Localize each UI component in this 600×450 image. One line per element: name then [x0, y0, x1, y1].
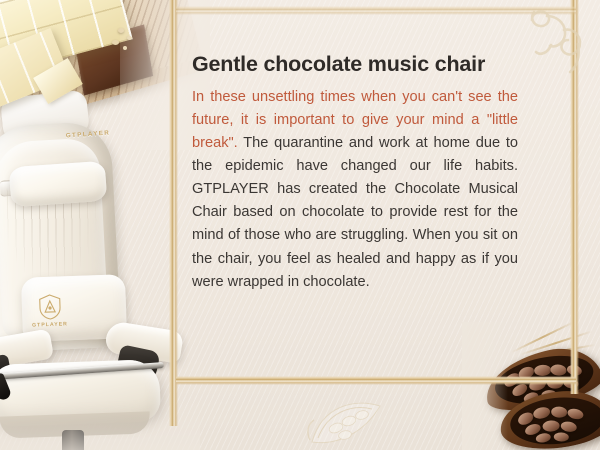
cocoa-pod-watermark-icon — [306, 396, 392, 448]
cocoa-pod-photo — [478, 330, 600, 450]
chair-headrest-pillow — [9, 161, 108, 208]
nut-crumb — [112, 40, 119, 45]
body-copy-rest: The quarantine and work at home due to t… — [192, 135, 518, 290]
frame-line-top — [176, 6, 576, 15]
page-title: Gentle chocolate music chair — [192, 52, 518, 77]
body-copy: In these unsettling times when you can't… — [192, 86, 518, 294]
corner-flourish-icon — [518, 4, 592, 78]
promo-banner: GTPLAYER GTPLAYER — [0, 0, 600, 450]
white-chocolate-photo — [0, 0, 192, 132]
gaming-chair-photo: GTPLAYER GTPLAYER — [0, 118, 198, 450]
chair-gas-cylinder — [62, 430, 84, 450]
nut-crumb — [123, 46, 127, 50]
nut-crumb — [127, 36, 132, 40]
gtplayer-shield-crest-icon — [38, 294, 63, 321]
text-panel: Gentle chocolate music chair In these un… — [192, 52, 518, 294]
nut-crumb — [118, 28, 124, 33]
cocoa-bean — [547, 378, 563, 389]
